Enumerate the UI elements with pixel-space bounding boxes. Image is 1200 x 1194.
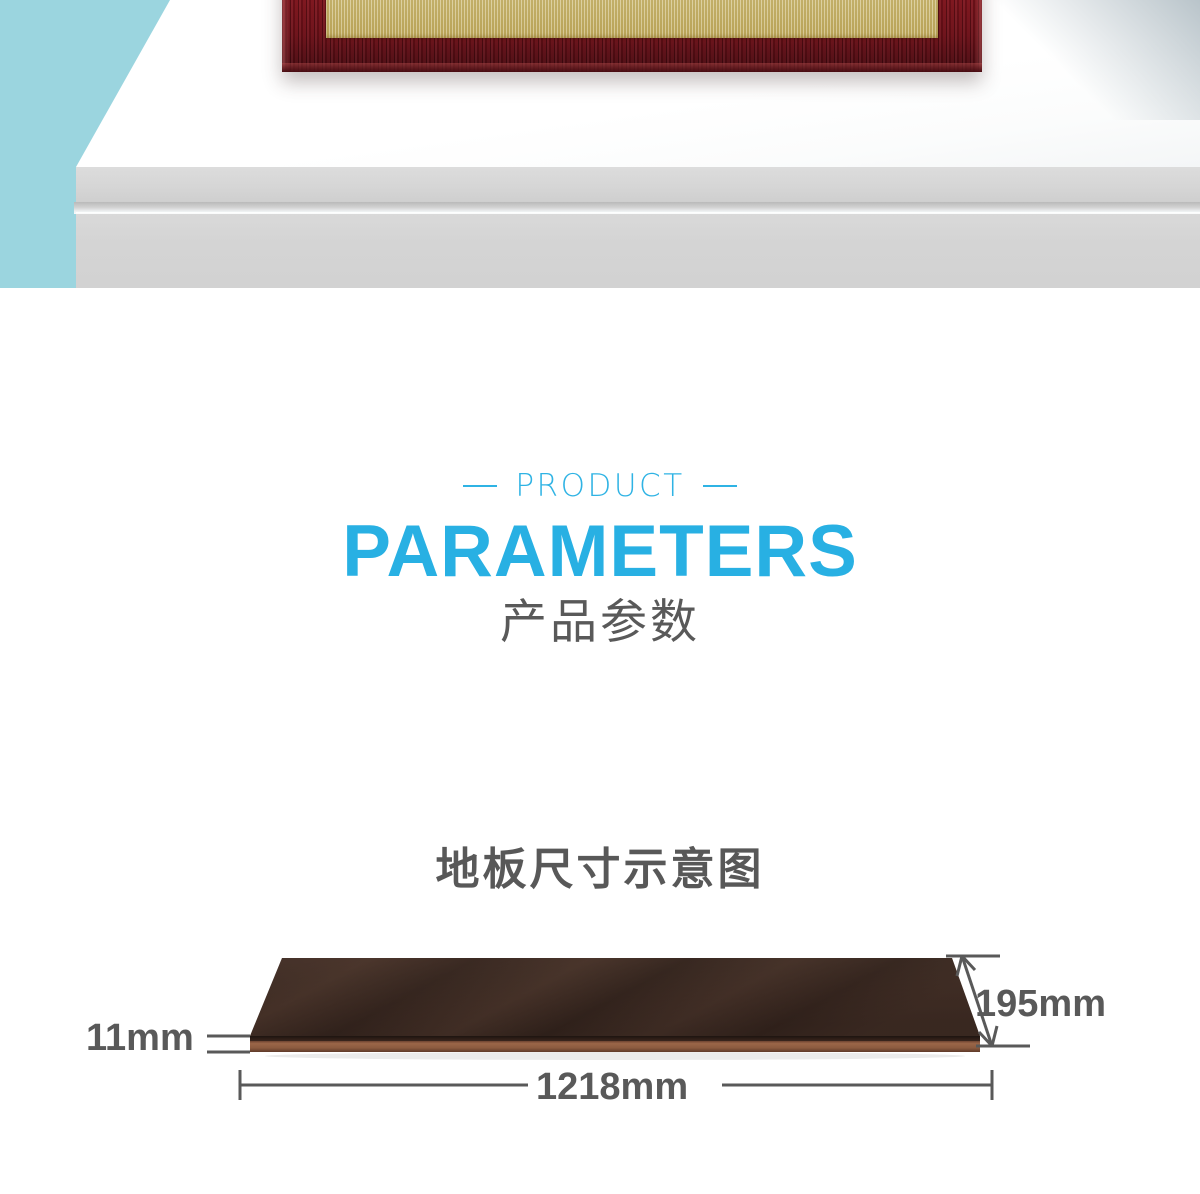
dimension-label-width: 195mm	[975, 985, 1106, 1023]
dimension-label-thickness: 11mm	[86, 1019, 194, 1057]
plank-edge-topline	[250, 1036, 980, 1041]
plank-contact-shadow	[265, 1052, 965, 1060]
dimension-label-length: 1218mm	[536, 1068, 688, 1106]
dimension-thickness-leaders	[207, 1036, 250, 1052]
plank-top-grain	[250, 958, 980, 1036]
plank-thickness-edge	[250, 1041, 980, 1052]
